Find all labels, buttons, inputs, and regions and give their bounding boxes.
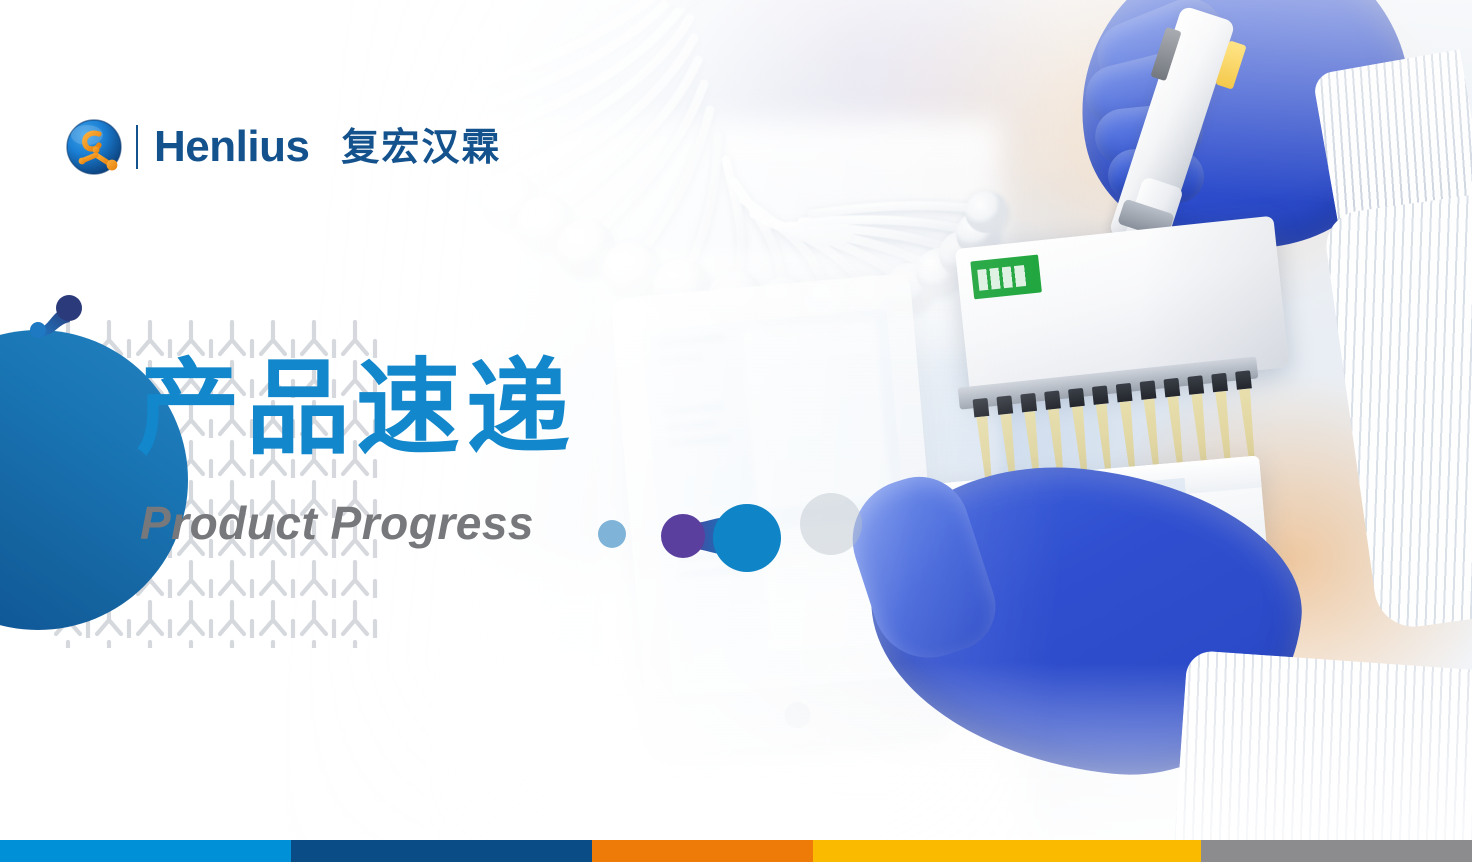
brand-divider	[136, 125, 138, 169]
accent-dot-light-blue	[598, 520, 626, 548]
accent-dot-ghost-gray	[800, 493, 862, 555]
bar-segment-dark-blue	[291, 840, 591, 862]
bar-segment-orange	[592, 840, 813, 862]
brand-lockup: Henlius 复宏汉霖	[66, 112, 501, 182]
page-title-cn: 产品速递	[136, 356, 576, 460]
bar-segment-light-blue	[0, 840, 291, 862]
bar-segment-yellow	[813, 840, 1202, 862]
lab-coat-cuff-lower	[1173, 650, 1472, 862]
brand-name-en: Henlius	[154, 125, 309, 169]
henlius-molecule-logo-icon	[66, 119, 122, 175]
page-subtitle-en: Product Progress	[140, 500, 534, 546]
brand-name-cn: 复宏汉霖	[341, 128, 501, 166]
presentation-slide: 产品速递 Product Progress	[0, 0, 1472, 862]
accent-color-bar	[0, 840, 1472, 862]
molecule-dumbbell-large	[655, 498, 785, 578]
molecule-dumbbell-small	[28, 292, 88, 342]
bar-segment-gray	[1201, 840, 1472, 862]
tablet-home-button	[783, 701, 811, 729]
